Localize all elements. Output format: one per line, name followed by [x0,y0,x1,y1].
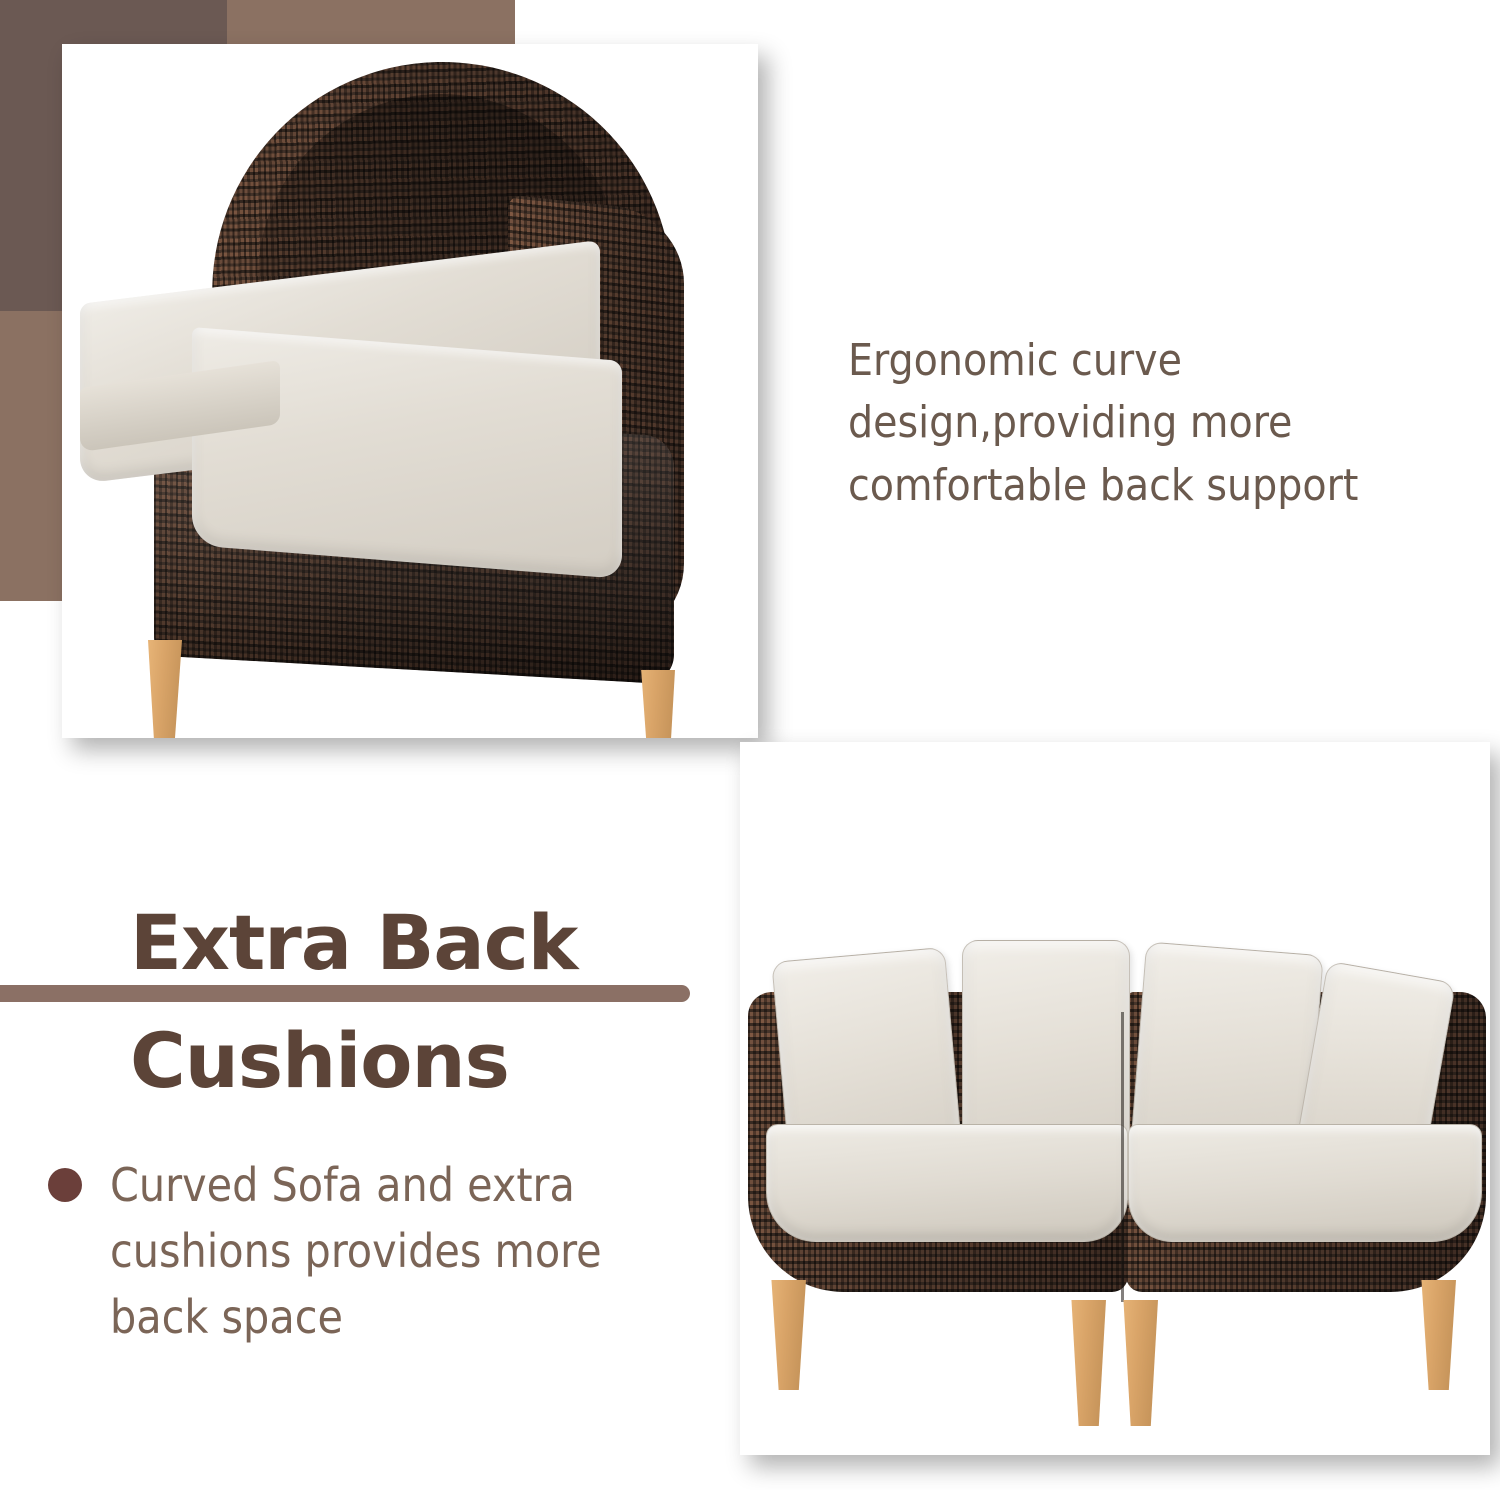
heading-divider-bar [0,985,690,1002]
sofa-leg-1 [770,1280,806,1390]
extra-back-heading-line1: Extra Back [130,898,577,987]
product-photo-curved-sofa [740,742,1490,1455]
sofa-leg-4 [1420,1280,1456,1390]
sofa-leg-3 [1122,1300,1158,1426]
sofa-seat-cushion-right [1128,1124,1482,1242]
decor-block-tan-left [0,311,62,601]
banner-title: Curved Back [844,95,1241,168]
product-photo-curved-back [62,44,758,738]
curved-back-banner: Curved Back [760,45,1500,218]
bullet-text: Curved Sofa and extra cushions provides … [110,1152,688,1351]
curved-back-description: Ergonomic curve design,providing more co… [848,330,1468,517]
chair-leg-left [148,640,182,738]
feature-bullet-item: Curved Sofa and extra cushions provides … [48,1152,688,1351]
sofa-seat-cushion-left [766,1124,1128,1242]
decor-block-tan-top [227,0,515,44]
extra-back-heading-line2: Cushions [130,1016,509,1105]
sofa-module-seam [1121,1012,1124,1302]
bullet-dot-icon [48,1168,82,1202]
sofa-leg-2 [1070,1300,1106,1426]
chair-leg-right [639,670,675,738]
